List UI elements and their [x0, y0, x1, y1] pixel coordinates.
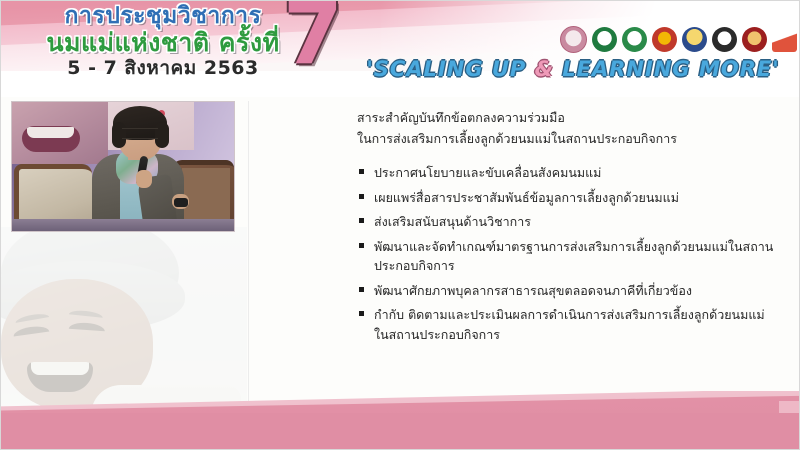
logo-thaihealth-sss-icon [772, 27, 797, 52]
poster-teeth [27, 127, 74, 138]
slide-footer-band [1, 391, 800, 449]
conference-date: 5 - 7 สิงหาคม 2563 [23, 59, 303, 78]
list-item: พัฒนาศักยภาพบุคลากรสาธารณสุขตลอดจนภาคีที… [357, 281, 777, 301]
logo-ministry-garuda-icon [652, 27, 677, 52]
logo-red-emblem-icon [742, 27, 767, 52]
footer-corner-accent [779, 401, 800, 413]
conference-title-line2: นมแม่แห่งชาติ ครั้งที่ [23, 30, 303, 55]
conference-title-line1: การประชุมวิชาการ [23, 5, 303, 28]
slide-header-banner: การประชุมวิชาการ นมแม่แห่งชาติ ครั้งที่ … [1, 1, 800, 97]
content-lead: สาระสำคัญบันทึกข้อตกลงความร่วมมือ ในการส… [357, 107, 777, 149]
slogan-ampersand: & [535, 57, 554, 81]
watermark-teeth [31, 362, 89, 375]
photo-speaker-hand-left [136, 170, 152, 188]
list-item-label: พัฒนาและจัดทำเกณฑ์มาตรฐานการส่งเสริมการเ… [374, 239, 773, 274]
photo-speaker-glasses [122, 128, 158, 139]
list-item: ประกาศนโยบายและขับเคลื่อนสังคมนมแม่ [357, 163, 777, 183]
content-divider [248, 101, 249, 401]
bullet-square-icon [359, 169, 364, 174]
sponsor-logo-strip [560, 24, 797, 54]
photo-presenter-remote [174, 198, 188, 207]
conference-slogan: 'SCALING UP & LEARNING MORE' [353, 57, 793, 81]
logo-university-seal-icon [712, 27, 737, 52]
logo-royal-emblem-icon [682, 27, 707, 52]
photo-backdrop-poster-left [12, 102, 108, 164]
conference-title-block: การประชุมวิชาการ นมแม่แห่งชาติ ครั้งที่ … [23, 5, 303, 78]
list-item: เผยแพร่สื่อสารประชาสัมพันธ์ข้อมูลการเลี้… [357, 188, 777, 208]
content-bullet-list: ประกาศนโยบายและขับเคลื่อนสังคมนมแม่ เผยแ… [357, 163, 777, 344]
bullet-square-icon [359, 243, 364, 248]
bullet-square-icon [359, 287, 364, 292]
bullet-square-icon [359, 194, 364, 199]
slogan-part1: 'SCALING UP [366, 57, 534, 81]
bullet-square-icon [359, 218, 364, 223]
edition-number: 7 [283, 1, 343, 77]
list-item-label: ส่งเสริมสนับสนุนด้านวิชาการ [374, 214, 531, 229]
content-text-column: สาระสำคัญบันทึกข้อตกลงความร่วมมือ ในการส… [357, 107, 777, 349]
list-item-label: กำกับ ติดตามและประเมินผลการดำเนินการส่งเ… [374, 307, 765, 342]
poster-lips [22, 126, 80, 152]
list-item: พัฒนาและจัดทำเกณฑ์มาตรฐานการส่งเสริมการเ… [357, 237, 777, 276]
content-lead-line2: ในการส่งเสริมการเลี้ยงลูกด้วยนมแม่ในสถาน… [357, 128, 777, 149]
bullet-square-icon [359, 311, 364, 316]
list-item-label: พัฒนาศักยภาพบุคลากรสาธารณสุขตลอดจนภาคีที… [374, 283, 692, 298]
list-item: กำกับ ติดตามและประเมินผลการดำเนินการส่งเ… [357, 305, 777, 344]
speaker-photo [11, 101, 235, 232]
logo-foundation-seal-icon [560, 26, 587, 53]
watermark-mouth [27, 362, 93, 392]
list-item: ส่งเสริมสนับสนุนด้านวิชาการ [357, 212, 777, 232]
content-lead-line1: สาระสำคัญบันทึกข้อตกลงความร่วมมือ [357, 107, 777, 128]
photo-stage-floor [12, 219, 235, 231]
logo-health-green-2-icon [622, 27, 647, 52]
presentation-slide: การประชุมวิชาการ นมแม่แห่งชาติ ครั้งที่ … [0, 0, 800, 450]
list-item-label: เผยแพร่สื่อสารประชาสัมพันธ์ข้อมูลการเลี้… [374, 190, 679, 205]
footer-band-base [1, 413, 800, 449]
logo-health-green-1-icon [592, 27, 617, 52]
slogan-part2: LEARNING MORE' [554, 57, 780, 81]
list-item-label: ประกาศนโยบายและขับเคลื่อนสังคมนมแม่ [374, 165, 601, 180]
